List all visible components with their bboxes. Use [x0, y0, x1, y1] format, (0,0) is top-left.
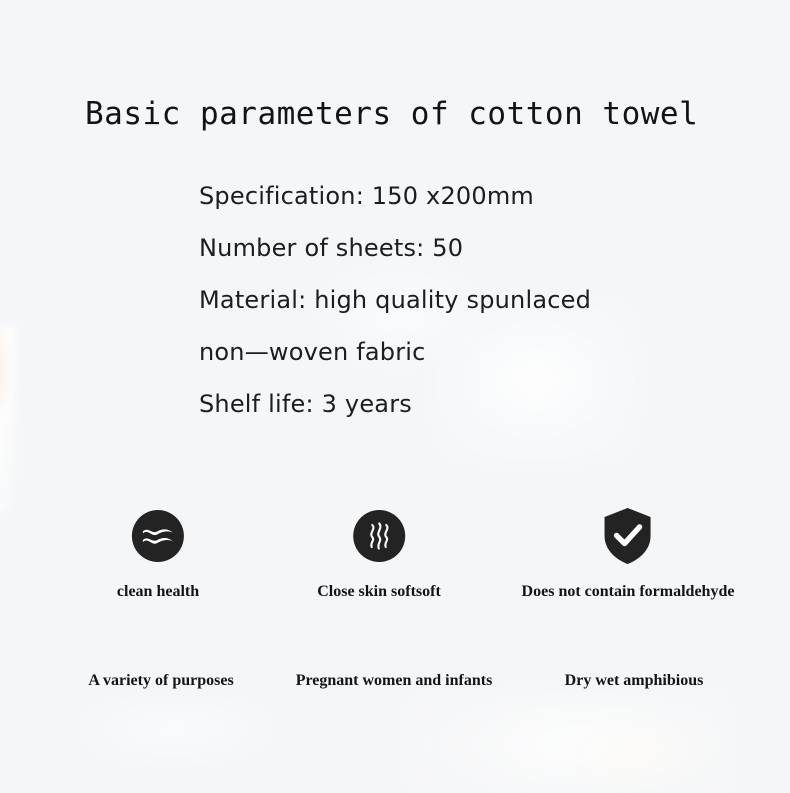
spec-line-specification: Specification: 150 x200mm	[199, 170, 759, 222]
feature-icon-row: clean health Close skin softsoft Doe	[0, 504, 790, 614]
spec-line-sheet-count: Number of sheets: 50	[199, 222, 759, 274]
spec-line-shelf-life: Shelf life: 3 years	[199, 378, 759, 430]
feature-label: clean health	[117, 583, 199, 601]
background-artifact-bottom-warm	[560, 720, 710, 790]
page-title: Basic parameters of cotton towel	[85, 96, 698, 132]
bottom-label-row: A variety of purposes Pregnant women and…	[0, 672, 790, 702]
bottom-label-variety-of-purposes: A variety of purposes	[88, 672, 233, 690]
spec-line-material: Material: high quality spunlaced	[199, 274, 759, 326]
feature-label: Does not contain formaldehyde	[522, 583, 735, 601]
feature-label: Close skin softsoft	[317, 583, 441, 601]
bottom-label-pregnant-women-infants: Pregnant women and infants	[296, 672, 493, 690]
feature-close-skin-soft: Close skin softsoft	[317, 504, 441, 601]
wave-circle-icon	[117, 504, 199, 568]
background-artifact-bottom-blob	[400, 690, 730, 793]
steam-circle-icon	[317, 504, 441, 568]
product-parameters-panel: Basic parameters of cotton towel Specifi…	[0, 0, 790, 793]
shield-check-icon	[522, 504, 735, 568]
background-artifact-lower-left	[60, 700, 290, 770]
spec-line-material-cont: non—woven fabric	[199, 326, 759, 378]
feature-formaldehyde-free: Does not contain formaldehyde	[522, 504, 735, 601]
specification-list: Specification: 150 x200mm Number of shee…	[199, 170, 759, 430]
background-artifact-left-warm	[0, 330, 8, 410]
background-artifact-left-strip	[0, 326, 16, 512]
bottom-label-dry-wet-amphibious: Dry wet amphibious	[565, 672, 704, 690]
feature-clean-health: clean health	[117, 504, 199, 601]
